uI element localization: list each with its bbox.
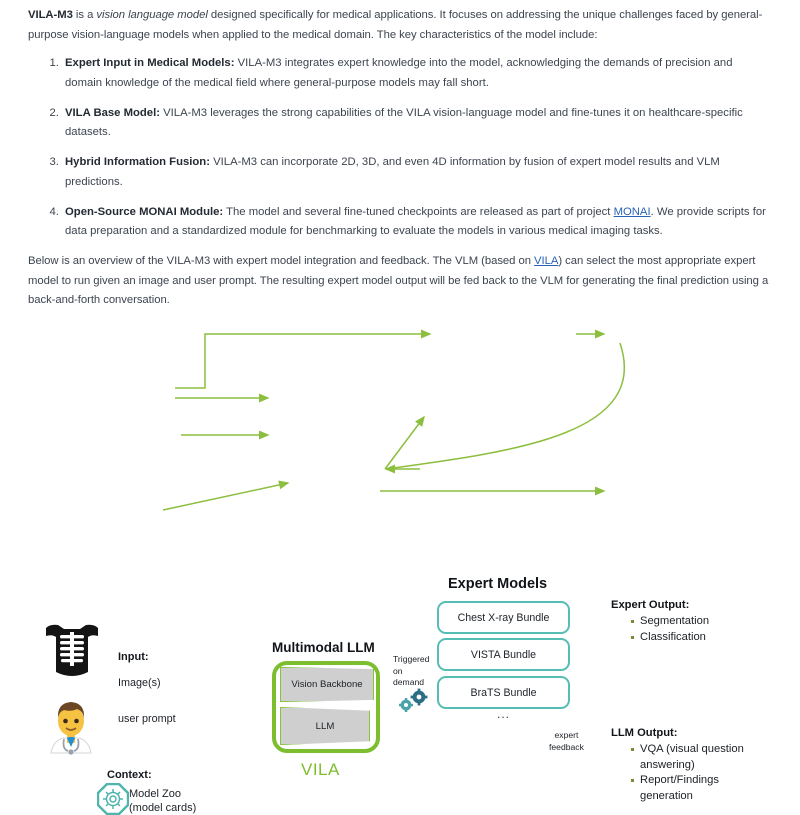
llm-block: LLM [280, 707, 370, 745]
triggered-on-demand-label: Triggered on demand [393, 654, 429, 689]
expert-output-title: Expert Output: [611, 599, 689, 611]
list-item: Expert Input in Medical Models: VILA-M3 … [62, 54, 772, 93]
input-user-prompt-label: user prompt [118, 713, 176, 725]
intro-paragraph: VILA-M3 is a vision language model desig… [28, 6, 772, 45]
wire-modelzoo-to-llm [163, 483, 288, 510]
key-characteristics-list: Expert Input in Medical Models: VILA-M3 … [28, 54, 772, 242]
list-item-title: Hybrid Information Fusion: [65, 156, 210, 168]
monai-link[interactable]: MONAI [614, 206, 651, 218]
vision-backbone-block: Vision Backbone [280, 667, 374, 702]
overview-text-pre: Below is an overview of the VILA-M3 with… [28, 255, 534, 267]
list-item-body-pre: The model and several fine-tuned checkpo… [223, 206, 613, 218]
context-heading: Context: [107, 769, 152, 781]
intro-italic-term: vision language model [96, 9, 207, 21]
intro-text-1: is a [73, 9, 97, 21]
list-item: Segmentation [631, 614, 709, 630]
list-item: Hybrid Information Fusion: VILA-M3 can i… [62, 153, 772, 192]
architecture-diagram: Expert Models Multimodal LLM Chest X-ray… [0, 283, 800, 553]
article-body: VILA-M3 is a vision language model desig… [0, 0, 800, 320]
chest-xray-icon [40, 620, 104, 682]
expert-output-list: Segmentation Classification [617, 614, 709, 645]
input-images-label: Image(s) [118, 677, 161, 689]
bundle-chest-xray[interactable]: Chest X-ray Bundle [437, 601, 570, 634]
expert-feedback-label: expert feedback [549, 730, 584, 753]
expert-models-title: Expert Models [448, 576, 547, 592]
model-zoo-line2: (model cards) [129, 802, 196, 814]
bundles-ellipsis: ... [437, 707, 570, 721]
woman-health-worker-icon [43, 697, 99, 755]
list-item: VILA Base Model: VILA-M3 leverages the s… [62, 104, 772, 143]
list-item: VQA (visual question answering) [631, 742, 751, 773]
model-zoo-icon [97, 783, 129, 815]
llm-output-list: VQA (visual question answering) Report/F… [617, 742, 751, 804]
list-item-body: VILA-M3 leverages the strong capabilitie… [65, 107, 743, 139]
list-item: Report/Findings generation [631, 773, 751, 804]
model-zoo-label: Model Zoo(model cards) [129, 787, 196, 815]
vila-link[interactable]: VILA [534, 255, 558, 267]
wire-route-to-expert [175, 334, 430, 388]
wire-expert-feedback-curve [386, 343, 624, 469]
llm-output-title: LLM Output: [611, 727, 677, 739]
list-item: Classification [631, 630, 709, 646]
wire-llm-to-gears [385, 417, 424, 469]
list-item-title: Expert Input in Medical Models: [65, 57, 234, 69]
gears-icon [396, 688, 430, 714]
list-item: Open-Source MONAI Module: The model and … [62, 203, 772, 242]
input-heading: Input: [118, 651, 149, 663]
bundle-brats[interactable]: BraTS Bundle [437, 676, 570, 709]
list-item-title: Open-Source MONAI Module: [65, 206, 223, 218]
model-zoo-line1: Model Zoo [129, 788, 181, 800]
vila-caption: VILA [301, 760, 340, 780]
multimodal-llm-title: Multimodal LLM [272, 640, 375, 655]
list-item-title: VILA Base Model: [65, 107, 160, 119]
bundle-vista[interactable]: VISTA Bundle [437, 638, 570, 671]
intro-lead-term: VILA-M3 [28, 9, 73, 21]
diagram-connectors [0, 283, 800, 553]
